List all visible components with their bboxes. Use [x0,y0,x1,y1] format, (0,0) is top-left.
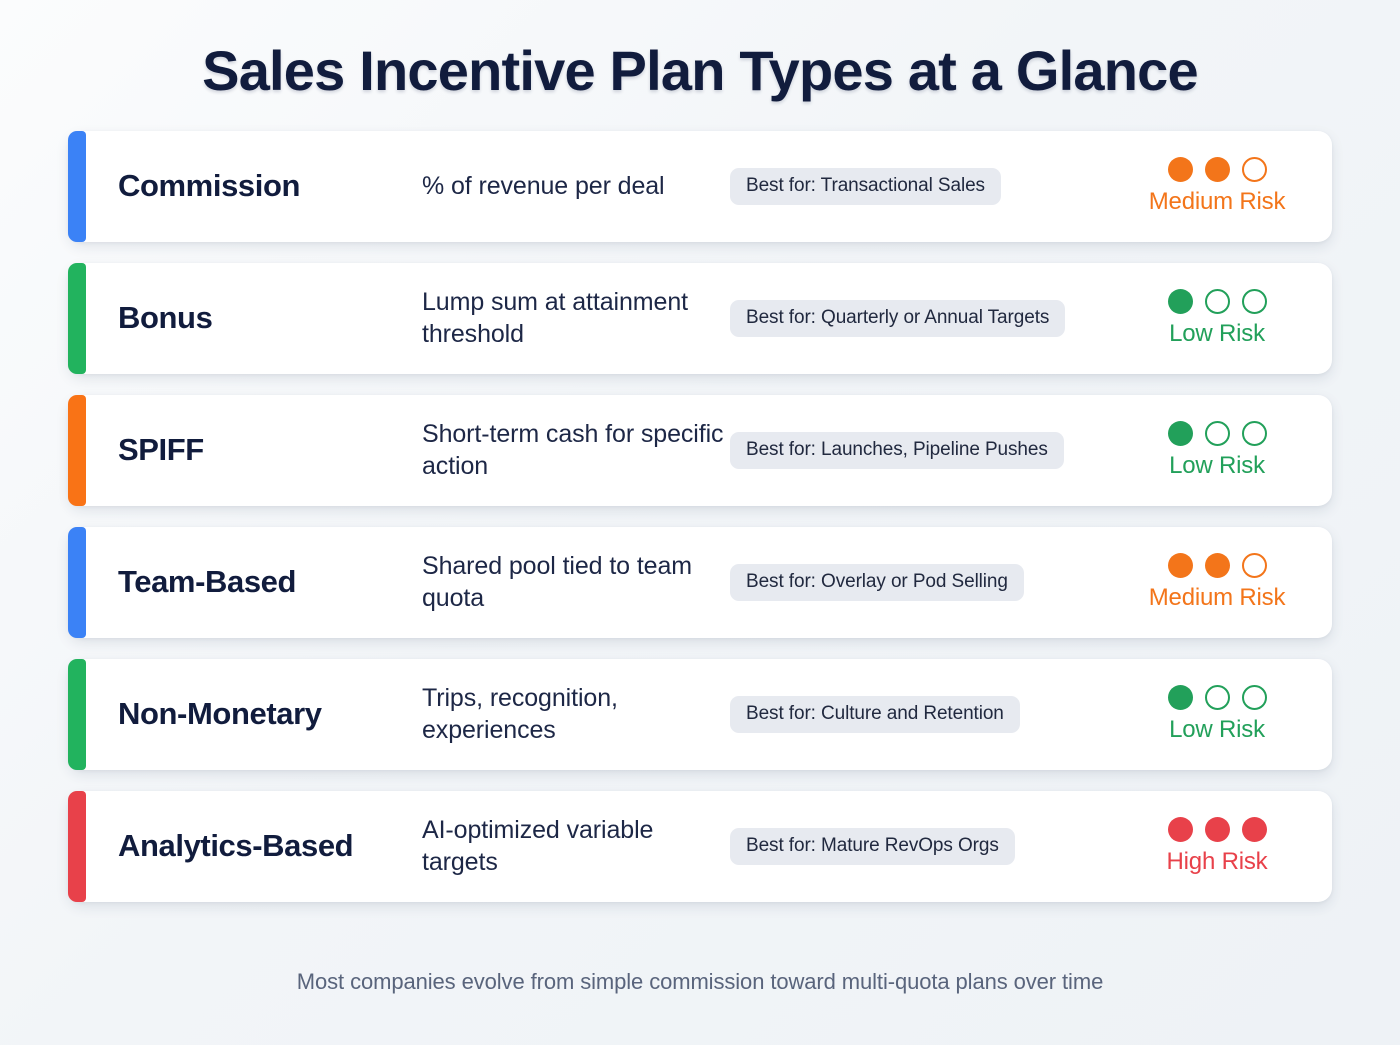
risk-dot-filled-icon [1205,553,1230,578]
plan-name: Bonus [86,301,422,335]
risk-dot-empty-icon [1242,289,1267,314]
best-for-badge: Best for: Mature RevOps Orgs [730,828,1015,865]
plan-description: Lump sum at attainment threshold [422,287,724,350]
risk-dot-filled-icon [1168,685,1193,710]
plan-name: Team-Based [86,565,422,599]
risk-dot-filled-icon [1205,817,1230,842]
risk-dot-group [1168,157,1267,182]
plan-badge-container: Best for: Mature RevOps Orgs [724,828,1118,865]
risk-label: Low Risk [1169,716,1265,744]
risk-dot-group [1168,817,1267,842]
plan-card[interactable]: Analytics-BasedAI-optimized variable tar… [68,791,1332,902]
risk-dot-group [1168,289,1267,314]
plan-card-content: BonusLump sum at attainment thresholdBes… [68,263,1332,374]
risk-dot-group [1168,685,1267,710]
risk-indicator: Medium Risk [1118,157,1332,216]
risk-dot-empty-icon [1242,553,1267,578]
best-for-badge: Best for: Launches, Pipeline Pushes [730,432,1064,469]
plan-name: Non-Monetary [86,697,422,731]
plan-card-content: SPIFFShort-term cash for specific action… [68,395,1332,506]
risk-dot-empty-icon [1242,157,1267,182]
plan-card-list: Commission% of revenue per dealBest for:… [68,103,1332,902]
risk-dot-empty-icon [1205,289,1230,314]
plan-card-content: Non-MonetaryTrips, recognition, experien… [68,659,1332,770]
plan-badge-container: Best for: Culture and Retention [724,696,1118,733]
plan-card-content: Team-BasedShared pool tied to team quota… [68,527,1332,638]
risk-indicator: Low Risk [1118,421,1332,480]
plan-badge-container: Best for: Launches, Pipeline Pushes [724,432,1118,469]
plan-name: Analytics-Based [86,829,422,863]
plan-badge-container: Best for: Quarterly or Annual Targets [724,300,1118,337]
risk-indicator: Low Risk [1118,685,1332,744]
plan-card[interactable]: BonusLump sum at attainment thresholdBes… [68,263,1332,374]
risk-dot-group [1168,421,1267,446]
risk-indicator: Medium Risk [1118,553,1332,612]
risk-label: High Risk [1167,848,1268,876]
best-for-badge: Best for: Quarterly or Annual Targets [730,300,1065,337]
plan-badge-container: Best for: Transactional Sales [724,168,1118,205]
plan-card-content: Commission% of revenue per dealBest for:… [68,131,1332,242]
plan-name: SPIFF [86,433,422,467]
risk-label: Medium Risk [1149,584,1286,612]
plan-description: Trips, recognition, experiences [422,683,724,746]
plan-card[interactable]: Non-MonetaryTrips, recognition, experien… [68,659,1332,770]
infographic-page: Sales Incentive Plan Types at a Glance C… [0,0,1400,1045]
risk-dot-empty-icon [1242,421,1267,446]
risk-dot-empty-icon [1242,685,1267,710]
risk-dot-filled-icon [1168,817,1193,842]
best-for-badge: Best for: Overlay or Pod Selling [730,564,1024,601]
plan-description: Short-term cash for specific action [422,419,724,482]
plan-card[interactable]: Commission% of revenue per dealBest for:… [68,131,1332,242]
plan-card[interactable]: SPIFFShort-term cash for specific action… [68,395,1332,506]
plan-badge-container: Best for: Overlay or Pod Selling [724,564,1118,601]
best-for-badge: Best for: Culture and Retention [730,696,1020,733]
best-for-badge: Best for: Transactional Sales [730,168,1001,205]
risk-dot-filled-icon [1168,421,1193,446]
plan-description: % of revenue per deal [422,171,724,203]
risk-label: Low Risk [1169,452,1265,480]
risk-dot-filled-icon [1168,157,1193,182]
page-title: Sales Incentive Plan Types at a Glance [0,0,1400,103]
footer-note: Most companies evolve from simple commis… [0,969,1400,995]
risk-indicator: High Risk [1118,817,1332,876]
plan-card-content: Analytics-BasedAI-optimized variable tar… [68,791,1332,902]
plan-name: Commission [86,169,422,203]
risk-dot-empty-icon [1205,421,1230,446]
risk-dot-filled-icon [1205,157,1230,182]
risk-dot-group [1168,553,1267,578]
risk-dot-empty-icon [1205,685,1230,710]
risk-label: Low Risk [1169,320,1265,348]
plan-description: Shared pool tied to team quota [422,551,724,614]
plan-card[interactable]: Team-BasedShared pool tied to team quota… [68,527,1332,638]
risk-indicator: Low Risk [1118,289,1332,348]
risk-label: Medium Risk [1149,188,1286,216]
risk-dot-filled-icon [1168,553,1193,578]
risk-dot-filled-icon [1168,289,1193,314]
plan-description: AI-optimized variable targets [422,815,724,878]
risk-dot-filled-icon [1242,817,1267,842]
